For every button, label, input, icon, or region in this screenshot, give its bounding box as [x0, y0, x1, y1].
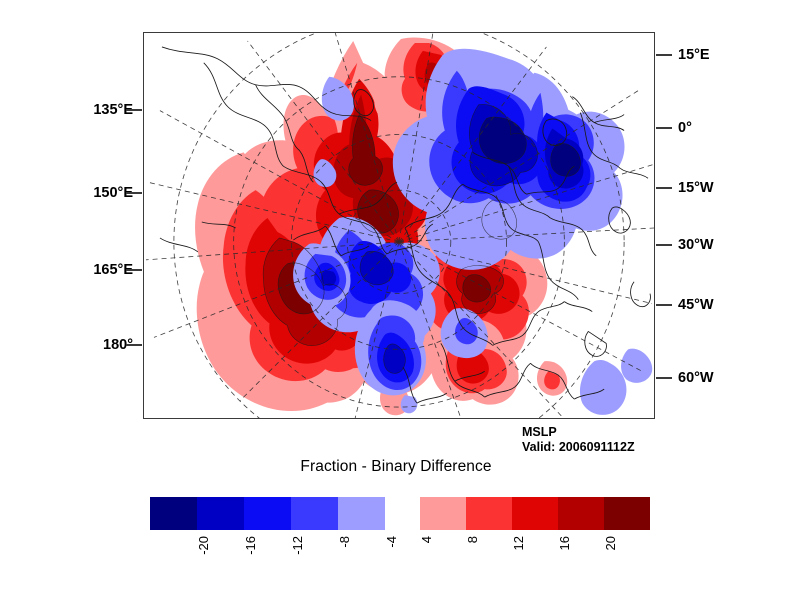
- right-tick-mark-60w: [656, 377, 672, 379]
- colorbar-tick-pos-4: 4: [420, 536, 433, 543]
- left-tick-mark-180: [126, 344, 142, 346]
- map-plot-area[interactable]: [143, 32, 655, 419]
- right-tick-label-15w: 15°W: [678, 181, 714, 196]
- right-tick-label-45w: 45°W: [678, 298, 714, 313]
- colorbar-tick-neg-12: -12: [291, 536, 304, 555]
- right-tick-mark-0: [656, 127, 672, 129]
- right-tick-label-0: 0°: [678, 121, 692, 136]
- colorbar-swatch-neg-4: [338, 497, 385, 530]
- colorbar-swatch-neg-12: [244, 497, 291, 530]
- figure-root: 135°E 150°E 165°E 180° 15°E 0° 15°W 30°W…: [0, 0, 792, 612]
- right-tick-mark-45w: [656, 304, 672, 306]
- colorbar-tick-pos-8: 8: [466, 536, 479, 543]
- right-tick-label-15e: 15°E: [678, 48, 710, 63]
- colorbar-swatch-pos-8: [466, 497, 512, 530]
- colorbar-swatch-pos-12: [512, 497, 558, 530]
- valid-time-label: Valid: 2006091112Z: [522, 440, 635, 455]
- right-tick-label-30w: 30°W: [678, 238, 714, 253]
- right-tick-mark-15e: [656, 54, 672, 56]
- left-tick-mark-135e: [126, 109, 142, 111]
- colorbar-swatch-pos-20: [604, 497, 650, 530]
- right-tick-mark-30w: [656, 244, 672, 246]
- right-tick-label-60w: 60°W: [678, 371, 714, 386]
- colorbar-positive[interactable]: [420, 497, 650, 530]
- left-tick-label-180: 180°: [75, 338, 133, 353]
- left-tick-label-150e: 150°E: [75, 186, 133, 201]
- colorbar-tick-neg-20: -20: [197, 536, 210, 555]
- colorbar-tick-neg-8: -8: [338, 536, 351, 548]
- colorbar-tick-neg-16: -16: [244, 536, 257, 555]
- field-name-label: MSLP: [522, 425, 635, 440]
- colorbar-tick-pos-12: 12: [512, 536, 525, 550]
- colorbar-tick-pos-16: 16: [558, 536, 571, 550]
- colorbar-tick-neg-4: -4: [385, 536, 398, 548]
- right-tick-mark-15w: [656, 187, 672, 189]
- colorbar-swatch-neg-20: [150, 497, 197, 530]
- left-tick-label-165e: 165°E: [75, 263, 133, 278]
- field-valid-stamp: MSLP Valid: 2006091112Z: [522, 425, 635, 456]
- contour-map: [144, 33, 654, 418]
- left-tick-mark-150e: [126, 192, 142, 194]
- colorbar-swatch-pos-16: [558, 497, 604, 530]
- left-tick-label-135e: 135°E: [75, 103, 133, 118]
- colorbar-tick-pos-20: 20: [604, 536, 617, 550]
- colorbar-negative[interactable]: [150, 497, 385, 530]
- figure-caption: Fraction - Binary Difference: [0, 458, 792, 476]
- left-tick-mark-165e: [126, 269, 142, 271]
- colorbar-swatch-neg-16: [197, 497, 244, 530]
- colorbar-swatch-pos-4: [420, 497, 466, 530]
- colorbar-swatch-neg-8: [291, 497, 338, 530]
